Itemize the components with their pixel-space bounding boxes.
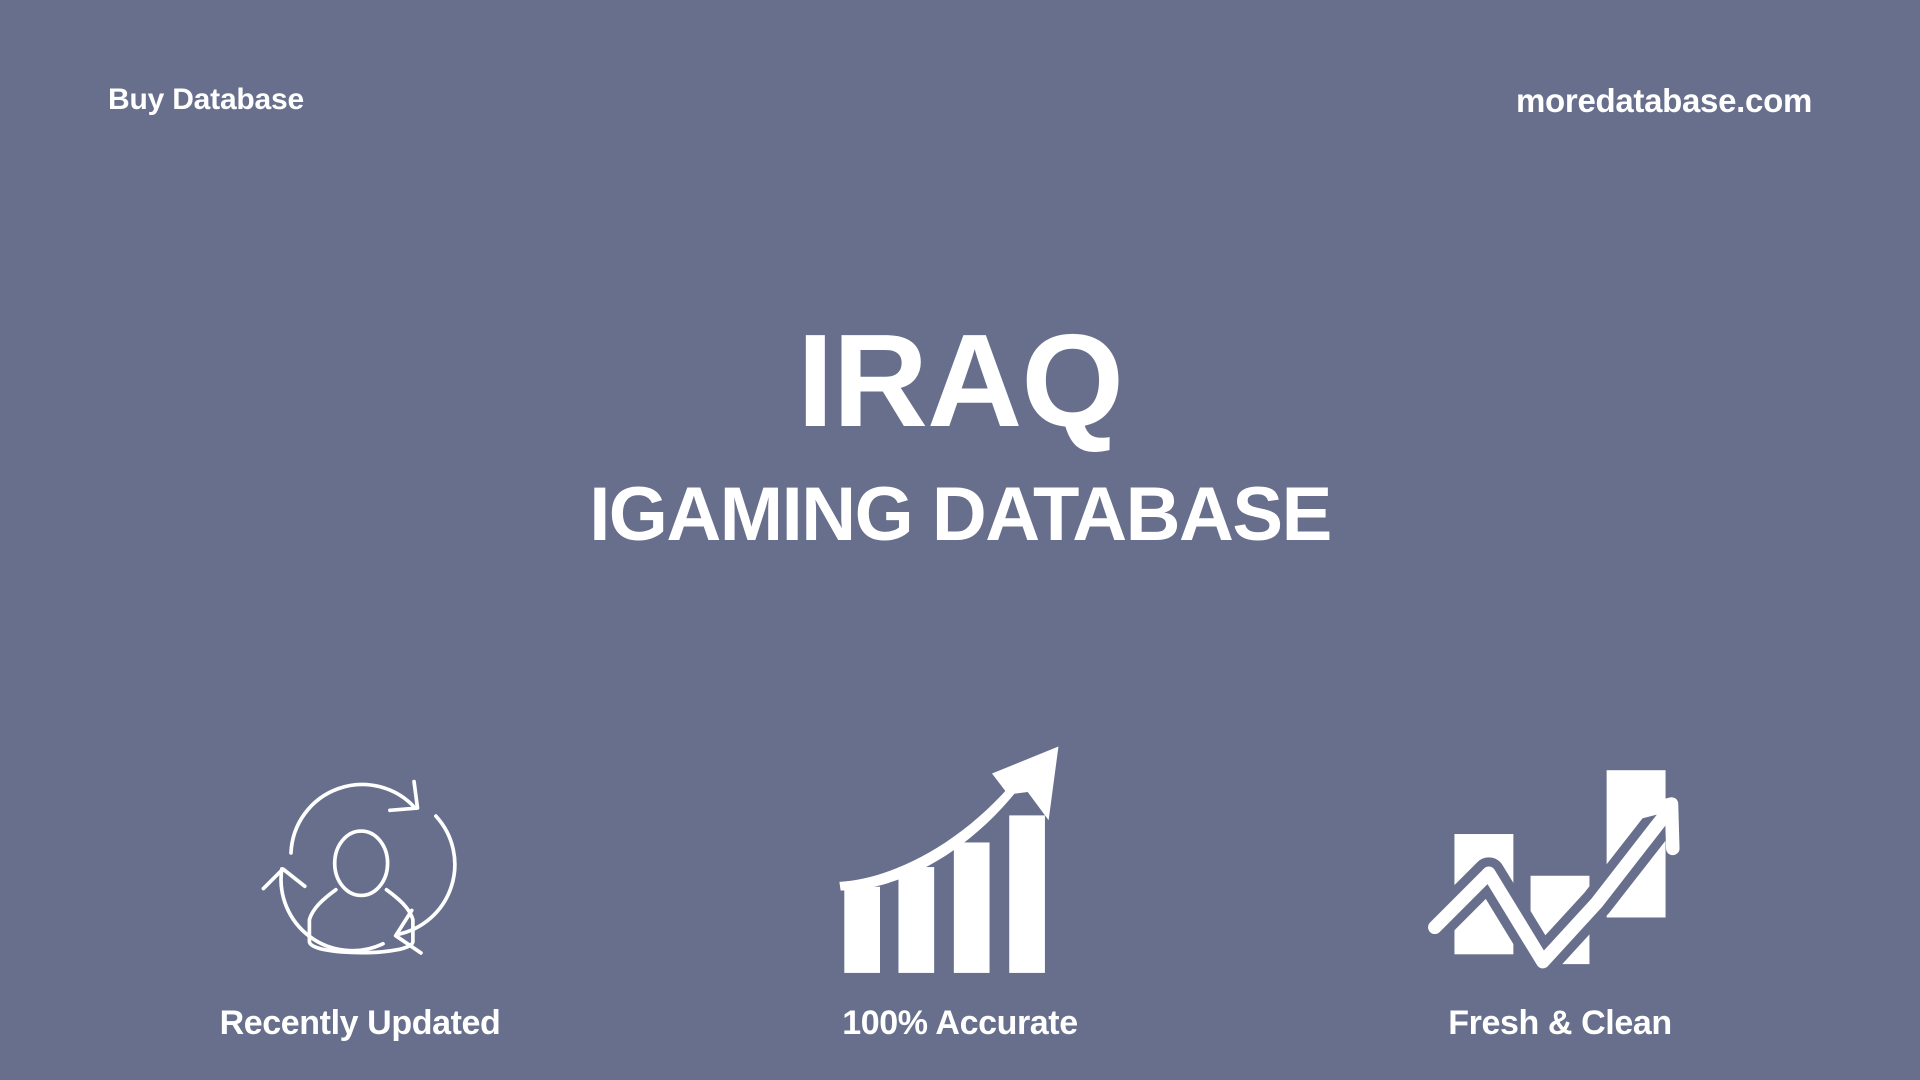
brand-right-website: moredatabase.com <box>1516 84 1812 117</box>
bar-chart-zigzag-arrow-icon <box>1425 744 1695 984</box>
hero-subtitle: IGAMING DATABASE <box>0 477 1920 553</box>
feature-item-fresh-clean: Fresh & Clean <box>1340 744 1780 1040</box>
feature-label: 100% Accurate <box>842 1006 1077 1040</box>
feature-list: Recently Updated 100% Accurate <box>0 690 1920 1040</box>
user-refresh-cycle-icon <box>245 744 475 984</box>
growth-bar-chart-arrow-icon <box>835 744 1085 984</box>
feature-label: Fresh & Clean <box>1448 1006 1671 1040</box>
brand-left-label: Buy Database <box>108 85 304 115</box>
hero-section: IRAQ IGAMING DATABASE <box>0 318 1920 553</box>
banner-header: Buy Database moredatabase.com <box>0 0 1920 200</box>
feature-item-recently-updated: Recently Updated <box>140 744 580 1040</box>
hero-country-title: IRAQ <box>0 318 1920 443</box>
feature-label: Recently Updated <box>220 1006 501 1040</box>
promo-banner: Buy Database moredatabase.com IRAQ IGAMI… <box>0 0 1920 1080</box>
feature-item-accurate: 100% Accurate <box>740 744 1180 1040</box>
